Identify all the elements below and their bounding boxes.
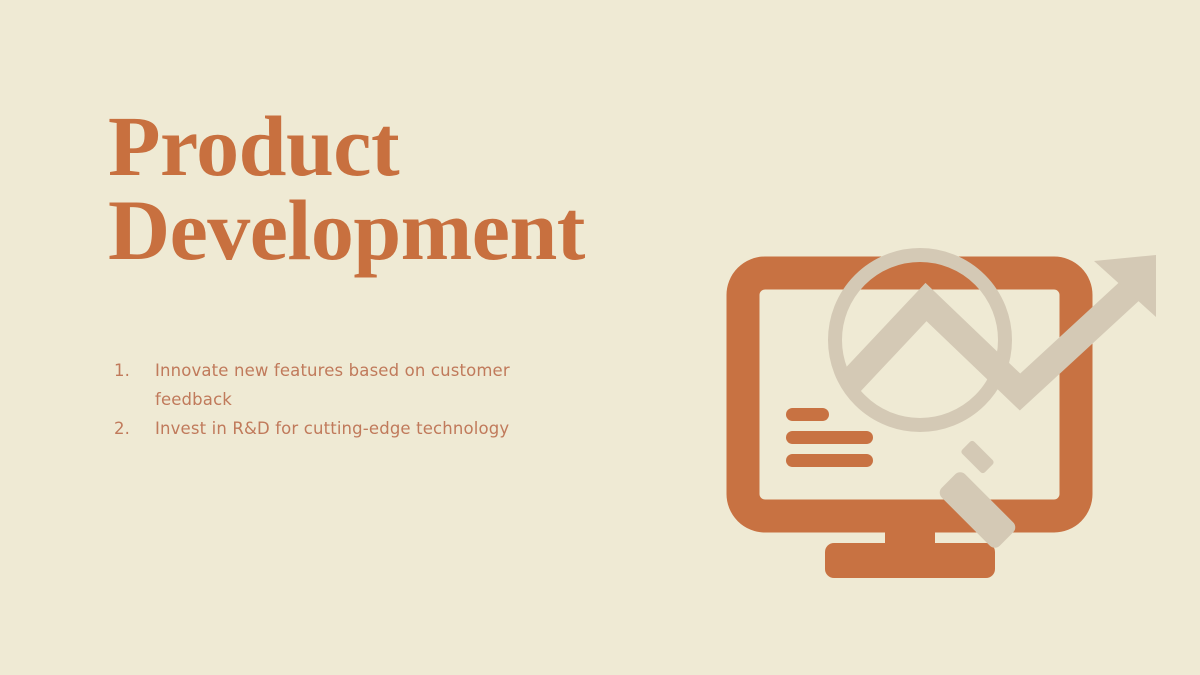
list-item: 1. Innovate new features based on custom… <box>110 356 510 414</box>
list-item-text: Innovate new features based on customer … <box>155 356 510 414</box>
product-development-illustration <box>720 245 1170 595</box>
bullet-list: 1. Innovate new features based on custom… <box>110 356 510 443</box>
monitor-stand-neck <box>885 517 935 547</box>
screen-line-long-1 <box>786 431 873 444</box>
title-block: Product Development <box>108 104 728 273</box>
slide-canvas: Product Development 1. Innovate new feat… <box>0 0 1200 675</box>
magnifier-neck <box>960 440 995 475</box>
list-item-marker: 1. <box>114 356 144 385</box>
screen-line-long-2 <box>786 454 873 467</box>
list-item-marker: 2. <box>114 414 144 443</box>
list-item: 2. Invest in R&D for cutting-edge techno… <box>110 414 510 443</box>
page-title: Product Development <box>108 104 728 273</box>
screen-line-short <box>786 408 829 421</box>
illustration-svg <box>720 245 1170 595</box>
monitor-stand-base <box>825 543 995 578</box>
list-item-text: Invest in R&D for cutting-edge technolog… <box>155 414 510 443</box>
